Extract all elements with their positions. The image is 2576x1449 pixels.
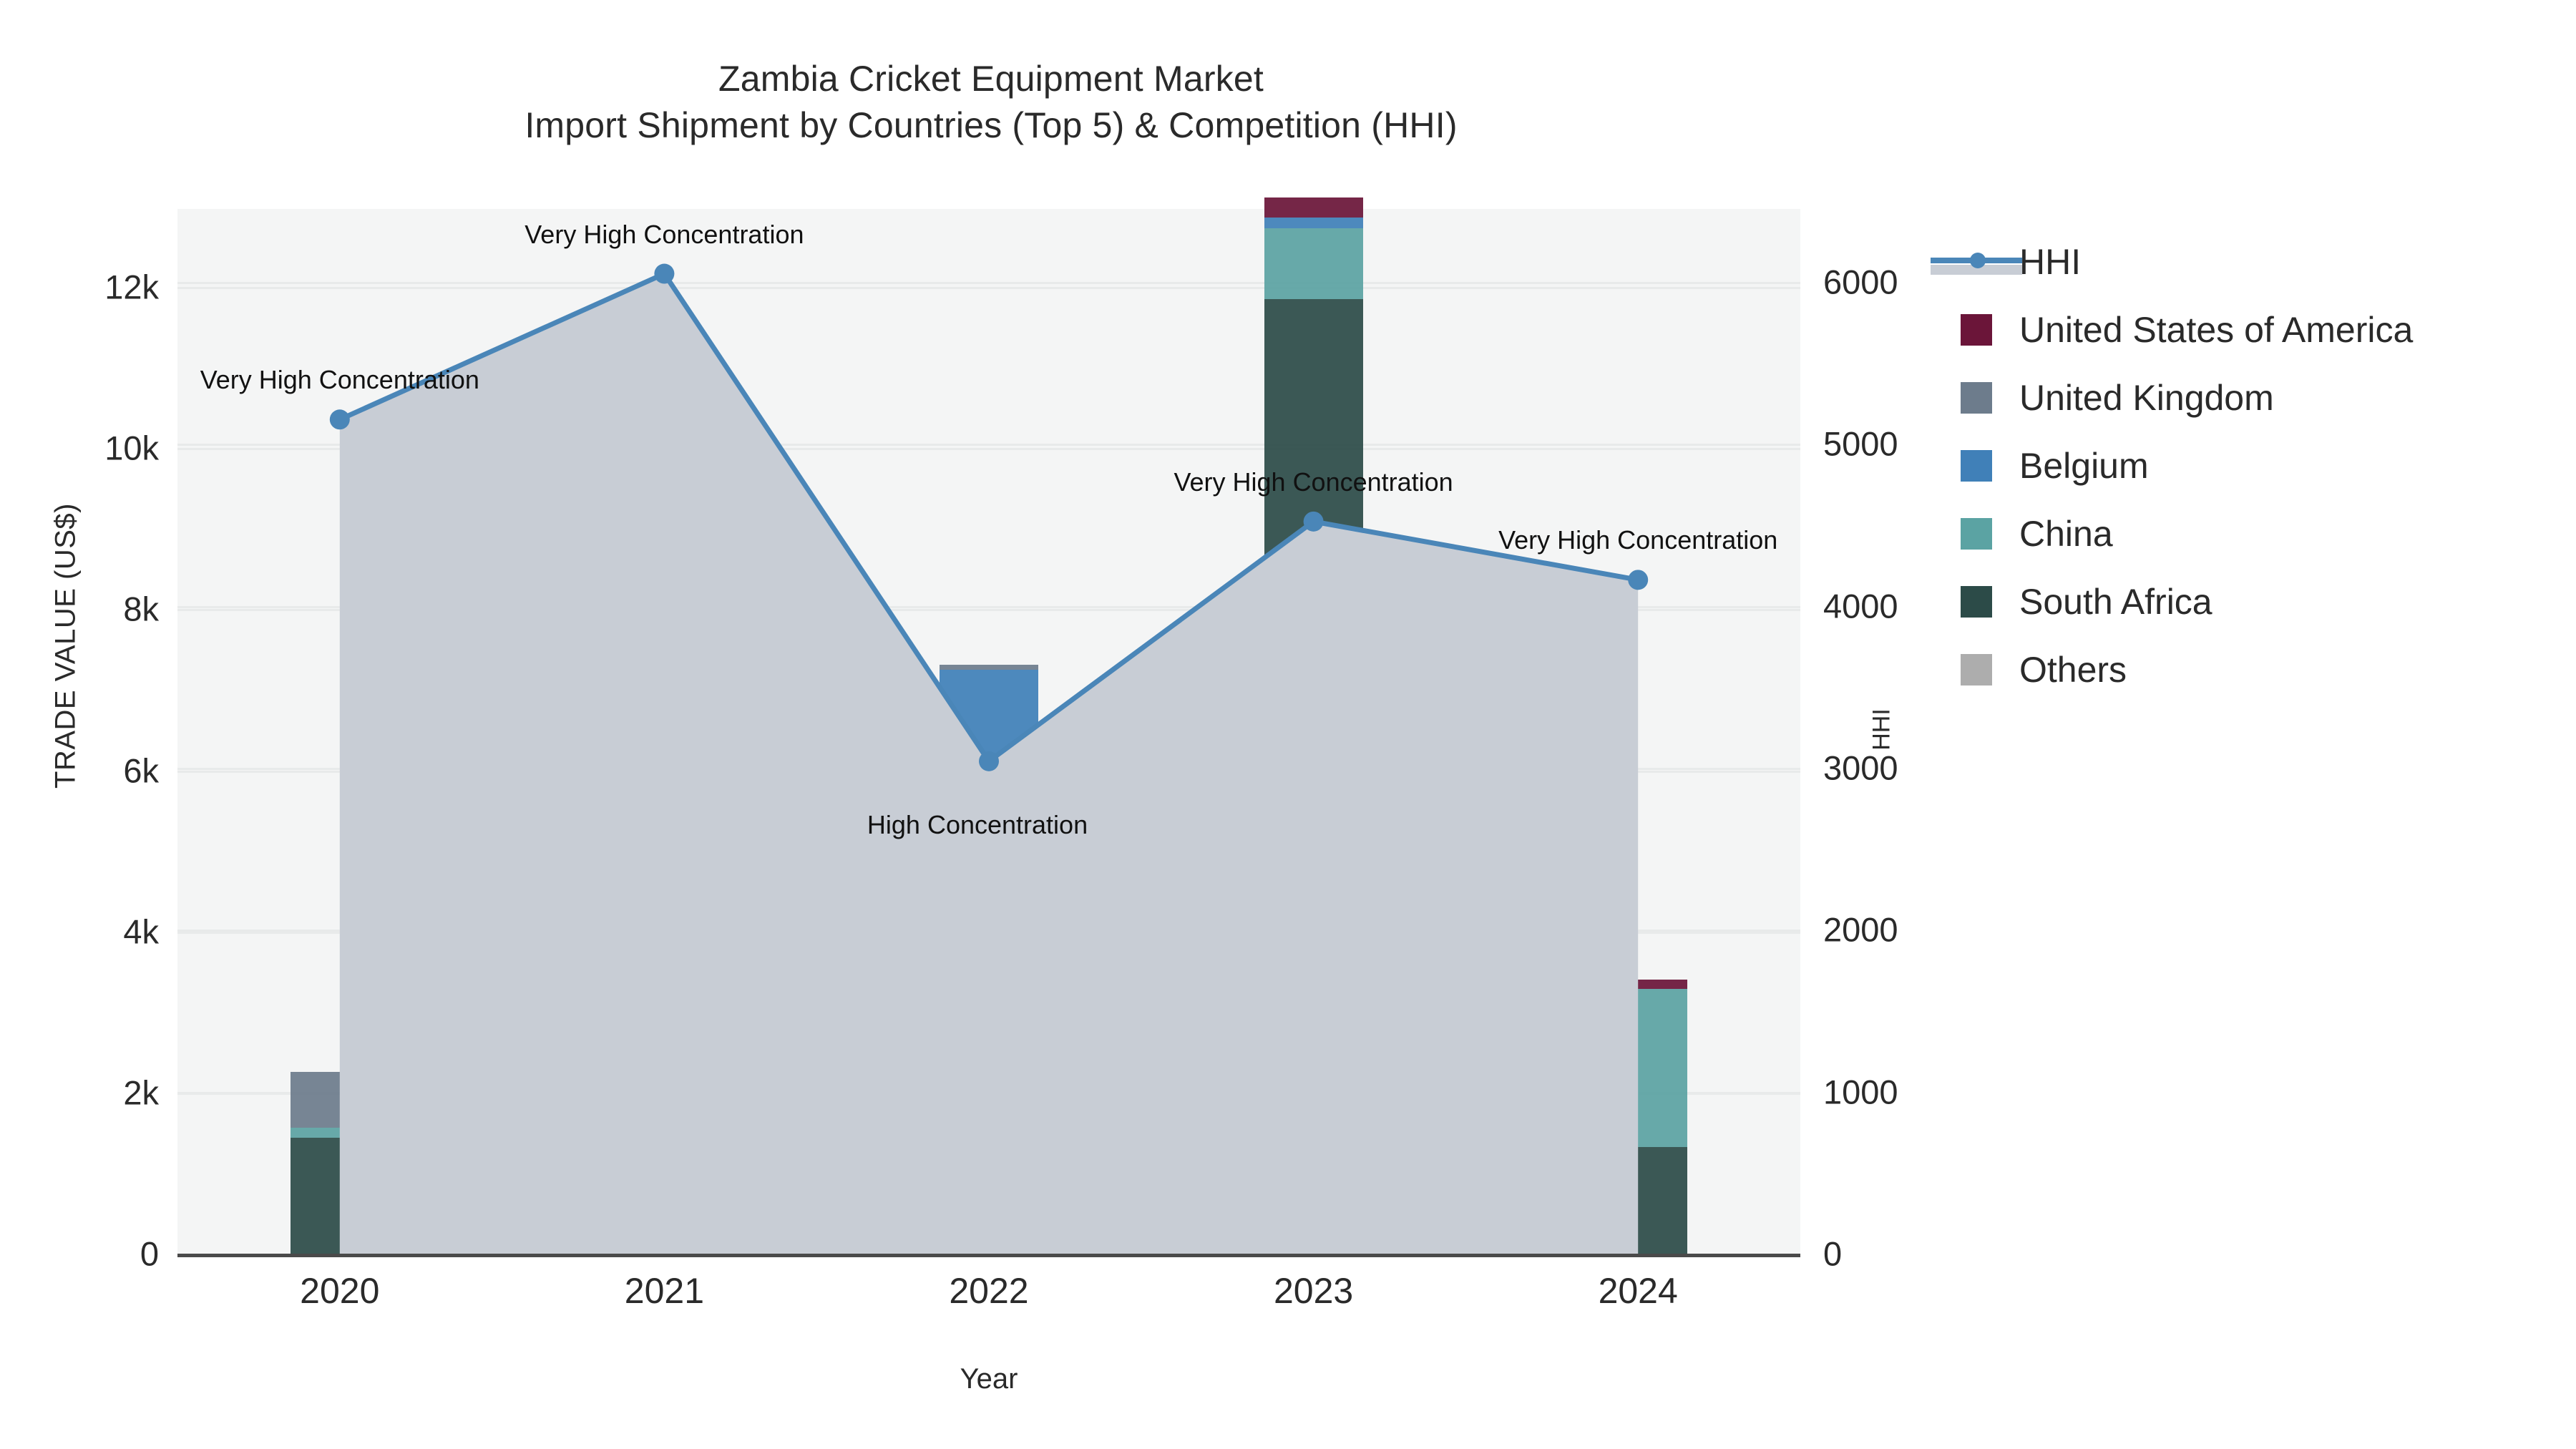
- y-tick-left: 10k: [0, 429, 159, 468]
- x-tick: 2021: [557, 1270, 771, 1312]
- y-tick-left: 4k: [0, 912, 159, 951]
- legend-swatch-icon: [1961, 450, 1992, 482]
- y-tick-left: 0: [0, 1234, 159, 1274]
- legend-item-china[interactable]: China: [1961, 499, 2413, 567]
- x-tick: 2024: [1531, 1270, 1745, 1312]
- x-tick: 2022: [882, 1270, 1096, 1312]
- y-tick-left: 6k: [0, 751, 159, 790]
- hhi-marker[interactable]: [979, 751, 999, 771]
- y-tick-right: 0: [1823, 1234, 2009, 1274]
- plot-area: Very High ConcentrationVery High Concent…: [177, 209, 1800, 1254]
- hhi-marker[interactable]: [654, 264, 674, 284]
- legend-label: China: [2019, 513, 2113, 555]
- chart-title-line-1: Zambia Cricket Equipment Market: [0, 56, 1982, 102]
- legend-swatch-icon: [1961, 518, 1992, 550]
- chart-page: Zambia Cricket Equipment Market Import S…: [0, 0, 2576, 1449]
- legend-item-belgium[interactable]: Belgium: [1961, 431, 2413, 499]
- x-axis-label: Year: [177, 1363, 1800, 1395]
- hhi-annotation: Very High Concentration: [200, 365, 479, 395]
- hhi-annotation: High Concentration: [867, 810, 1088, 840]
- y-tick-right: 3000: [1823, 748, 2009, 787]
- legend-item-united-kingdom[interactable]: United Kingdom: [1961, 364, 2413, 431]
- legend-swatch-icon: [1961, 654, 1992, 686]
- chart-title: Zambia Cricket Equipment Market Import S…: [0, 56, 1982, 149]
- legend-swatch-icon: [1961, 586, 1992, 618]
- x-tick: 2023: [1206, 1270, 1421, 1312]
- hhi-annotation: Very High Concentration: [525, 220, 804, 250]
- legend-item-hhi[interactable]: HHI: [1961, 228, 2413, 296]
- legend-item-united-states-of-america[interactable]: United States of America: [1961, 296, 2413, 364]
- legend-label: United Kingdom: [2019, 377, 2274, 419]
- hhi-annotation: Very High Concentration: [1498, 525, 1777, 555]
- legend-label: United States of America: [2019, 309, 2413, 351]
- hhi-marker[interactable]: [1304, 512, 1324, 532]
- legend-label: Belgium: [2019, 445, 2149, 487]
- y-tick-right: 2000: [1823, 910, 2009, 950]
- legend-label: HHI: [2019, 241, 2081, 283]
- x-axis-line: [177, 1254, 1800, 1257]
- x-tick: 2020: [233, 1270, 447, 1312]
- hhi-marker[interactable]: [330, 409, 350, 429]
- chart-legend: HHIUnited States of AmericaUnited Kingdo…: [1961, 228, 2413, 703]
- legend-item-others[interactable]: Others: [1961, 635, 2413, 703]
- legend-label: South Africa: [2019, 581, 2212, 623]
- legend-swatch-icon: [1961, 314, 1992, 346]
- y-tick-right: 1000: [1823, 1072, 2009, 1111]
- hhi-legend-icon: [1961, 246, 1992, 278]
- hhi-marker[interactable]: [1628, 570, 1648, 590]
- y-tick-left: 12k: [0, 268, 159, 307]
- legend-label: Others: [2019, 649, 2127, 691]
- chart-title-line-2: Import Shipment by Countries (Top 5) & C…: [0, 102, 1982, 149]
- hhi-annotation: Very High Concentration: [1174, 467, 1453, 497]
- y-tick-left: 2k: [0, 1073, 159, 1112]
- legend-swatch-icon: [1961, 382, 1992, 414]
- y-tick-left: 8k: [0, 590, 159, 629]
- legend-item-south-africa[interactable]: South Africa: [1961, 567, 2413, 635]
